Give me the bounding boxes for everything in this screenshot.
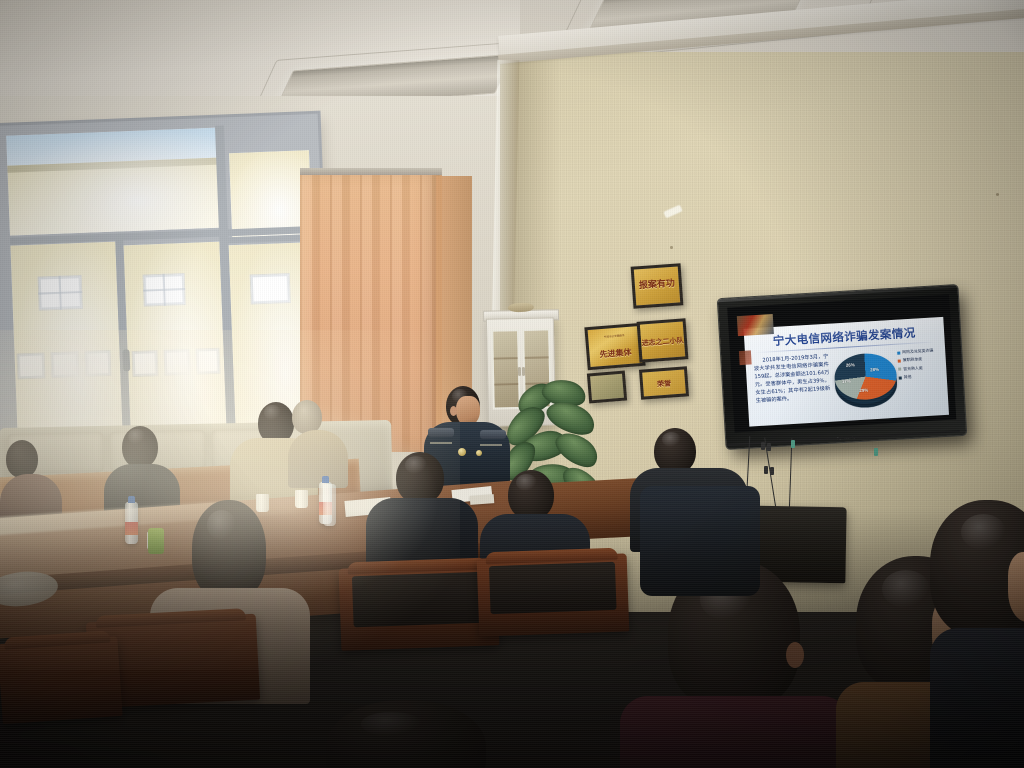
window-handle[interactable]	[122, 349, 130, 371]
tv-cable-clip-black-4	[770, 467, 774, 475]
legend-item-1: 兼职刷单类	[898, 356, 942, 363]
attendee-head	[192, 500, 266, 600]
award-plaque-1-sub: 宁波市公安局授予	[588, 332, 640, 340]
attendee-hair-highlight	[207, 510, 237, 540]
foreground-torso-navy	[930, 628, 1024, 768]
attendee-torso	[288, 430, 348, 488]
legend-swatch-0	[897, 351, 900, 354]
bottle-label	[125, 522, 138, 535]
legend-swatch-1	[898, 360, 901, 363]
presenter-ear	[450, 406, 457, 416]
attendee-hair-highlight	[405, 456, 427, 474]
attendee-hair-highlight	[264, 405, 281, 419]
tv-cable-clip-black-2	[767, 443, 771, 451]
award-plaque-4-label: 荣誉	[643, 377, 686, 390]
tv-cable-clip-green-1	[791, 440, 795, 448]
attendee-torso	[640, 486, 760, 596]
attendee-right-seated	[640, 486, 760, 596]
attendee-hair-highlight	[516, 474, 537, 491]
wall-nail-hole-2	[996, 193, 999, 196]
presenter-shoulder-board-right	[480, 430, 506, 439]
meeting-room-photo: 宁波市公安局授予 先进集体 报案有功 进志之二小队 荣誉 宁大电信网络诈骗发案情…	[0, 0, 1024, 768]
presenter-uniform-trim-2	[480, 444, 502, 446]
cabinet-knob-left[interactable]	[518, 367, 521, 376]
foreground-attendee-bottom	[296, 700, 516, 768]
conference-chair[interactable]	[339, 563, 500, 650]
pie-label-2: 17%	[842, 379, 851, 385]
wall-nail-hole	[670, 246, 673, 249]
tv-cable-clip-green-2	[874, 448, 878, 456]
pie-label-0: 28%	[870, 367, 879, 373]
legend-item-2: 冒充熟人类	[898, 365, 942, 372]
water-bottle[interactable]	[125, 502, 138, 544]
bottle-cap	[128, 496, 135, 503]
pie-label-1: 29%	[859, 387, 868, 393]
foreground-torso-maroon	[620, 696, 850, 768]
conference-chair[interactable]	[0, 636, 123, 724]
legend-label-1: 兼职刷单类	[903, 356, 942, 363]
attendee-back-left-4	[288, 400, 348, 486]
window-glare-4	[123, 242, 226, 438]
legend-swatch-2	[898, 368, 901, 371]
foreground-hair-highlight	[361, 712, 422, 737]
tv-screen: 宁大电信网络诈骗发案情况 2018年1月-2019年3月，宁波大学共发生电信网络…	[727, 295, 956, 433]
award-plaque-4: 荣誉	[639, 366, 689, 399]
attendee-head-light-hair	[292, 400, 322, 434]
attendee-head	[396, 452, 444, 504]
foreground-hair-highlight	[961, 514, 1006, 550]
legend-swatch-3	[899, 376, 902, 379]
attendee-hair-highlight	[128, 429, 145, 443]
award-plaque-2-label: 报案有功	[634, 275, 679, 291]
legend-label-2: 冒充熟人类	[903, 365, 942, 372]
attendee-hair-highlight	[662, 432, 681, 448]
foreground-ear	[786, 642, 804, 668]
presenter-shoulder-board-left	[428, 428, 454, 437]
award-plaque-3: 进志之二小队	[637, 318, 689, 362]
foreground-attendee-right-2	[930, 500, 1024, 768]
legend-label-0: 网购及兑奖类诈骗	[902, 348, 941, 355]
cabinet-shelf	[494, 357, 518, 360]
chair-backrest-pad	[352, 572, 486, 627]
slide-body-text: 2018年1月-2019年3月，宁波大学共发生电信网络诈骗案件159起，总涉案金…	[753, 353, 831, 406]
window-glare	[6, 128, 224, 236]
cabinet-knob-right[interactable]	[522, 367, 525, 376]
pie-chart: 28% 29% 17% 26%	[833, 348, 899, 414]
attendee-head	[6, 440, 38, 478]
cabinet-shelf-3	[525, 356, 549, 359]
window-pane-top-left	[6, 128, 224, 236]
curtain-rod	[300, 168, 442, 175]
water-bottle[interactable]	[323, 484, 336, 526]
legend-item-3: 其他	[899, 373, 943, 380]
tv-window-reflection	[737, 314, 774, 336]
pie-label-3: 26%	[846, 362, 855, 368]
bottle-cap	[322, 476, 329, 483]
foreground-head	[326, 700, 486, 768]
award-plaque-1-label: 先进集体	[589, 346, 642, 361]
legend-item-0: 网购及兑奖类诈骗	[897, 348, 941, 355]
tv-cable-clip-black-3	[764, 466, 768, 474]
window-pane-bottom-middle	[123, 242, 226, 438]
award-plaque-3-label: 进志之二小队	[641, 335, 685, 348]
pie-chart-legend: 网购及兑奖类诈骗 兼职刷单类 冒充熟人类 其他	[897, 348, 943, 384]
presenter-uniform-trim	[430, 442, 452, 444]
wall-mounted-tv[interactable]: 宁大电信网络诈骗发案情况 2018年1月-2019年3月，宁波大学共发生电信网络…	[718, 285, 966, 449]
presentation-slide: 宁大电信网络诈骗发案情况 2018年1月-2019年3月，宁波大学共发生电信网络…	[744, 317, 949, 427]
foreground-hair-highlight	[882, 570, 930, 608]
attendee-head	[122, 426, 158, 468]
legend-label-3: 其他	[904, 373, 943, 380]
award-plaque-2: 报案有功	[631, 263, 684, 308]
tv-cable-clip-black-1	[761, 442, 765, 450]
tv-window-reflection-2	[739, 350, 752, 365]
window-glare-3	[10, 242, 122, 442]
conference-chair[interactable]	[477, 553, 630, 636]
window-pane-bottom-left	[10, 242, 122, 442]
attendee-head	[508, 470, 554, 520]
chair-backrest-pad	[489, 562, 617, 615]
